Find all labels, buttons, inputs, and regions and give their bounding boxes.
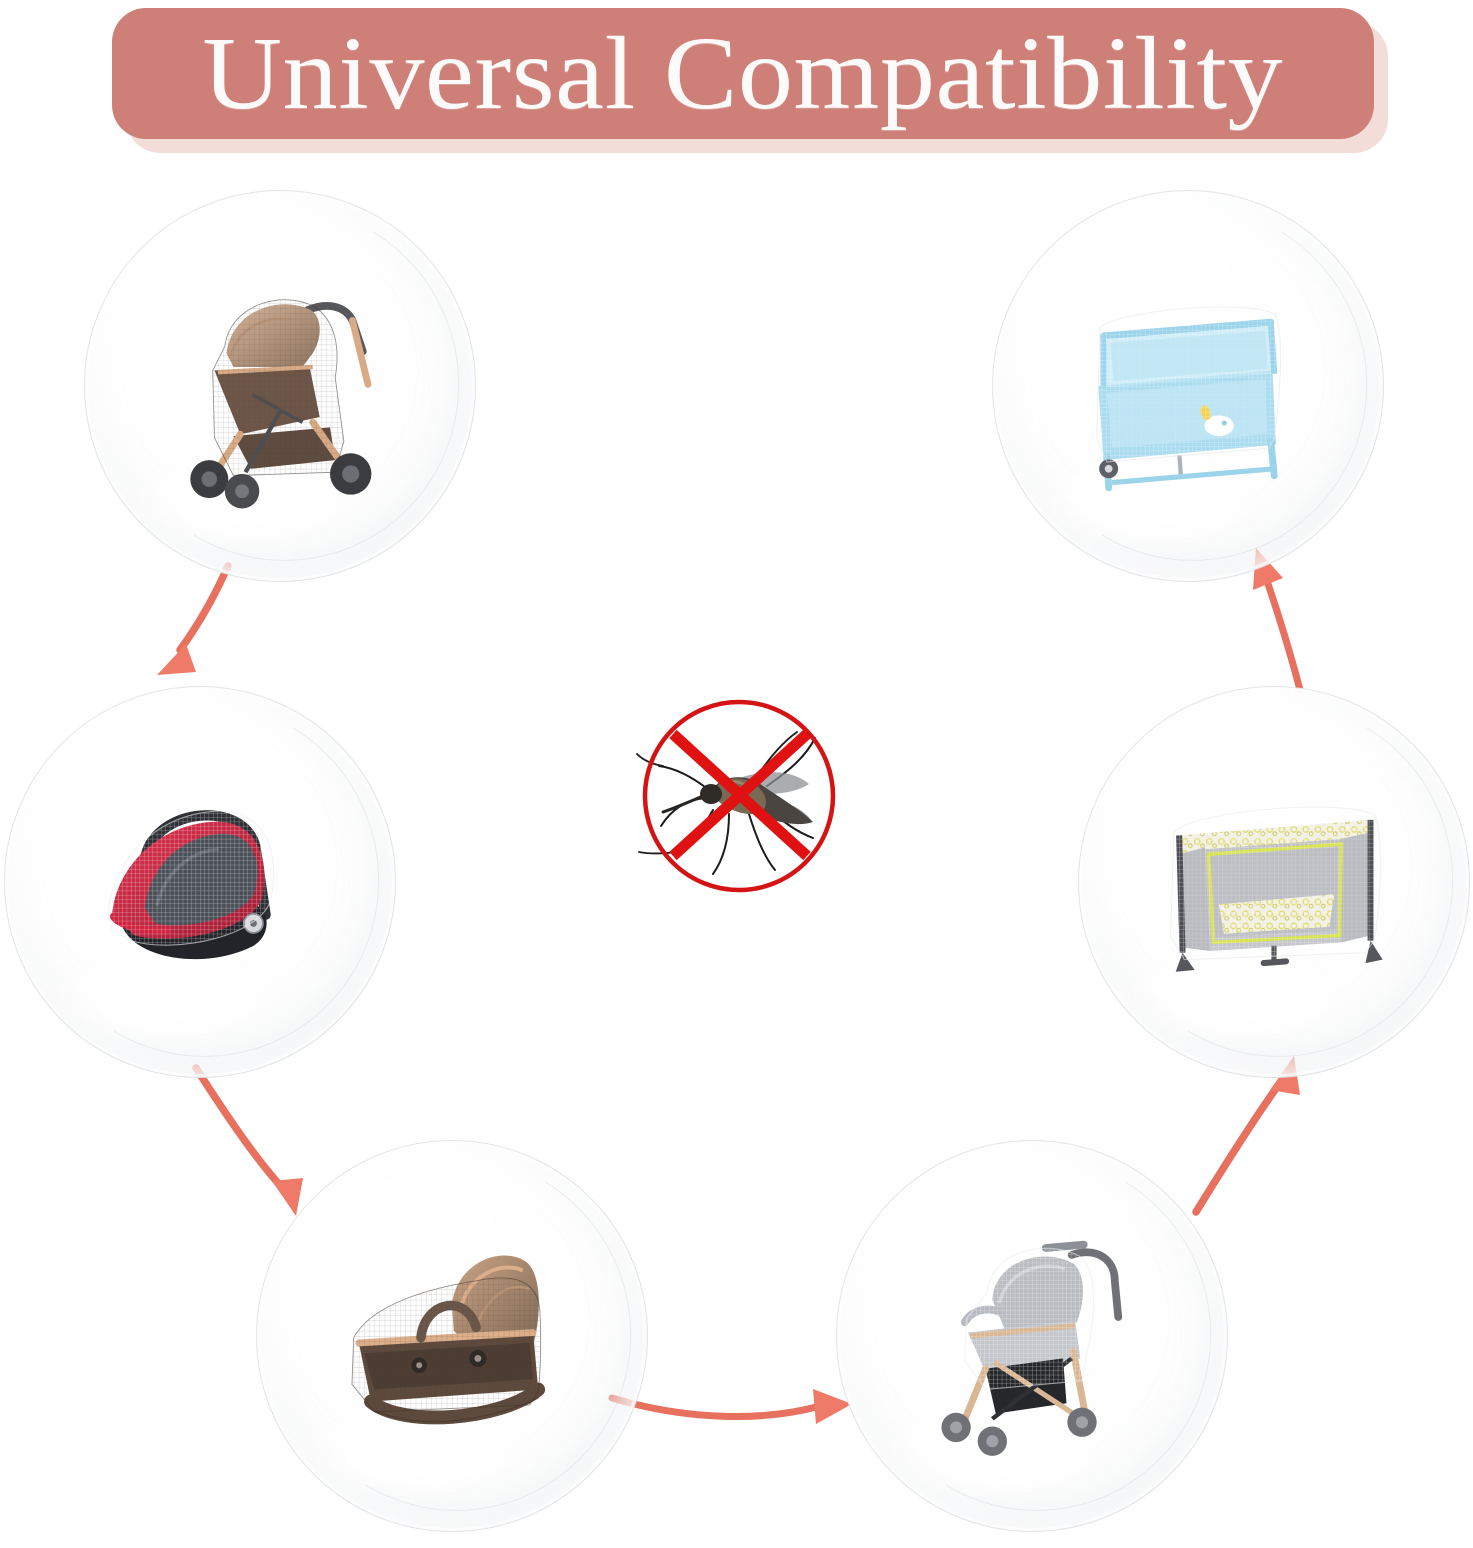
bubble-highlight	[82, 721, 262, 839]
bubble-umbrella-stroller	[836, 1140, 1228, 1532]
bubble-highlight-lower	[303, 1391, 530, 1493]
bubble-highlight	[162, 225, 342, 343]
arrow-bassinet-to-umbrella	[612, 1389, 852, 1424]
bubble-highlight	[334, 1175, 514, 1293]
bubble-highlight-lower	[1039, 441, 1266, 543]
bubble-stroller-full	[84, 190, 476, 582]
page-title: Universal Compatibility	[203, 22, 1284, 126]
arrow-carseat-to-bassinet	[196, 1068, 303, 1216]
bubble-bassinet	[256, 1140, 648, 1532]
bubble-highlight-lower	[51, 937, 278, 1039]
product-stroller-full	[143, 257, 417, 516]
product-travel-crib	[1051, 257, 1325, 516]
product-car-seat	[63, 753, 337, 1012]
product-umbrella-stroller	[895, 1207, 1169, 1466]
header-banner: Universal Compatibility	[112, 8, 1378, 153]
product-playard	[1137, 753, 1411, 1012]
bubble-highlight-lower	[1125, 937, 1352, 1039]
bubble-highlight	[1156, 721, 1336, 839]
product-bassinet	[315, 1207, 589, 1466]
arrow-stroller-to-carseat	[157, 566, 228, 675]
bubble-playard	[1078, 686, 1470, 1078]
arrow-playard-to-travelcrib	[1253, 548, 1300, 690]
bubble-highlight-lower	[883, 1391, 1110, 1493]
no-mosquito-icon	[617, 694, 862, 899]
bubble-highlight	[1070, 225, 1250, 343]
arrow-umbrella-to-playard	[1196, 1056, 1300, 1212]
bubble-car-seat	[4, 686, 396, 1078]
banner-plate: Universal Compatibility	[112, 8, 1374, 139]
bubble-travel-crib	[992, 190, 1384, 582]
bubble-highlight-lower	[131, 441, 358, 543]
bubble-highlight	[914, 1175, 1094, 1293]
